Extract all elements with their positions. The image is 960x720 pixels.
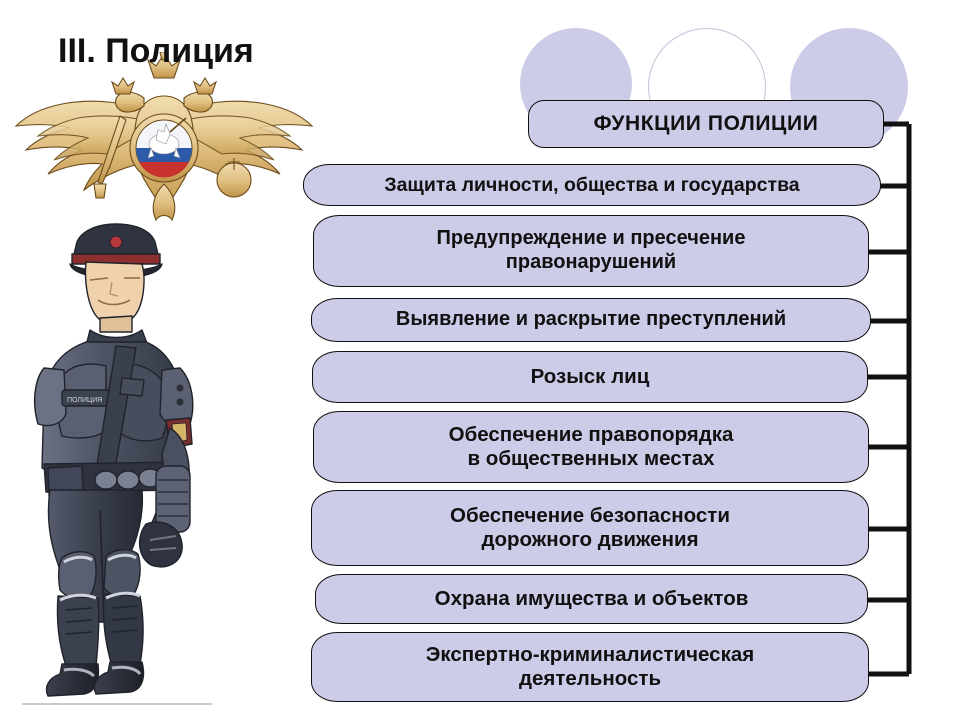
function-box-detection[interactable]: Выявление и раскрытие преступлений [311, 298, 871, 342]
function-box-label: Охрана имущества и объектов [326, 587, 857, 611]
function-box-public-order[interactable]: Обеспечение правопорядкав общественных м… [313, 411, 869, 483]
police-officer-illustration: ПОЛИЦИЯ [20, 218, 250, 710]
function-box-label: Экспертно-криминалистическаядеятельность [322, 643, 858, 691]
function-box-label: Розыск лиц [323, 365, 857, 389]
function-box-label: Обеспечение безопасностидорожного движен… [322, 504, 858, 552]
function-box-property-guard[interactable]: Охрана имущества и объектов [315, 574, 868, 624]
function-box-forensics[interactable]: Экспертно-криминалистическаядеятельность [311, 632, 869, 702]
function-box-label: Предупреждение и пресечениеправонарушени… [324, 227, 858, 274]
function-box-label: Выявление и раскрытие преступлений [322, 308, 860, 332]
officer-chest-patch-text: ПОЛИЦИЯ [67, 397, 102, 404]
function-box-protection[interactable]: Защита личности, общества и государства [303, 164, 881, 206]
function-box-search[interactable]: Розыск лиц [312, 351, 868, 403]
diagram-header-box[interactable]: ФУНКЦИИ ПОЛИЦИИ [528, 100, 884, 148]
page-title: III. Полиция [58, 32, 254, 71]
russian-mvd-eagle-emblem-icon [8, 52, 320, 222]
function-box-traffic-safety[interactable]: Обеспечение безопасностидорожного движен… [311, 490, 869, 566]
function-box-label: Защита личности, общества и государства [314, 174, 870, 197]
diagram-header-label: ФУНКЦИИ ПОЛИЦИИ [539, 112, 873, 137]
function-box-prevention[interactable]: Предупреждение и пресечениеправонарушени… [313, 215, 869, 287]
function-box-label: Обеспечение правопорядкав общественных м… [324, 423, 858, 471]
slide-canvas: III. Полиция [0, 0, 960, 720]
